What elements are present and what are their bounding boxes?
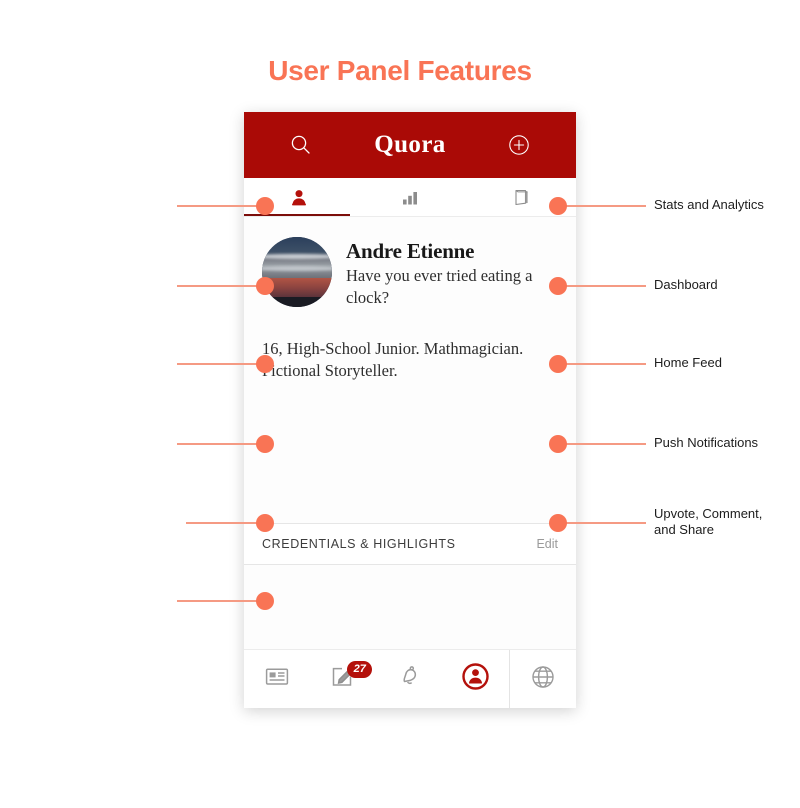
callout-label: Upvote, Comment, and Share: [654, 506, 800, 539]
callout-dot[interactable]: [549, 435, 567, 453]
callout-dot[interactable]: [256, 592, 274, 610]
callout-dot[interactable]: [256, 355, 274, 373]
credentials-section: CREDENTIALS & HIGHLIGHTS Edit: [244, 523, 576, 565]
callout-leader: [558, 363, 646, 365]
callout-leader: [177, 205, 265, 207]
nav-item-spaces[interactable]: [509, 650, 576, 708]
profile-tagline: Have you ever tried eating a clock?: [346, 265, 558, 310]
profile-name: Andre Etienne: [346, 239, 558, 263]
profile-circle-icon: [462, 663, 489, 695]
callout-dot[interactable]: [549, 355, 567, 373]
bell-icon: [398, 665, 422, 693]
callout-leader: [177, 600, 265, 602]
callout-leader: [177, 443, 265, 445]
news-feed-icon: [265, 666, 289, 692]
tab-stats[interactable]: [355, 178, 466, 216]
profile-tabbar: [244, 178, 576, 217]
page-title: User Panel Features: [0, 55, 800, 87]
globe-icon: [531, 665, 555, 694]
nav-item-feed[interactable]: [244, 650, 310, 708]
callout-label: Stats and Analytics: [654, 197, 800, 213]
callout-dot[interactable]: [256, 435, 274, 453]
app-header: Quora: [244, 112, 576, 178]
book-icon: [513, 189, 529, 206]
callout-leader: [177, 363, 265, 365]
callout-dot[interactable]: [549, 277, 567, 295]
profile-header: Andre Etienne Have you ever tried eating…: [244, 217, 576, 316]
credentials-title: CREDENTIALS & HIGHLIGHTS: [262, 537, 456, 551]
credentials-edit-button[interactable]: Edit: [536, 537, 558, 551]
callout-dot[interactable]: [256, 514, 274, 532]
answer-badge-count: 27: [347, 661, 372, 678]
callout-leader: [177, 285, 265, 287]
avatar[interactable]: [262, 237, 332, 307]
callout-label: Home Feed: [654, 355, 800, 371]
callout-label: Push Notifications: [654, 435, 800, 451]
avatar-ground: [262, 297, 332, 307]
person-icon: [291, 189, 307, 206]
callout-dot[interactable]: [549, 514, 567, 532]
callout-label: Dashboard: [654, 277, 800, 293]
nav-item-notifications[interactable]: [376, 650, 442, 708]
nav-item-answer[interactable]: 27: [310, 650, 376, 708]
nav-item-profile[interactable]: [443, 650, 509, 708]
callout-dot[interactable]: [256, 197, 274, 215]
phone-mockup: Quora: [244, 112, 576, 708]
profile-body-spacer: [244, 383, 576, 523]
callout-leader: [558, 205, 646, 207]
callout-dot[interactable]: [549, 197, 567, 215]
plus-circle-icon[interactable]: [506, 132, 532, 158]
avatar-cloud: [262, 266, 332, 270]
active-tab-underline: [244, 214, 350, 216]
bottom-navigation: 27: [244, 649, 576, 708]
callout-leader: [186, 522, 265, 524]
avatar-cloud: [262, 254, 332, 260]
callout-dot[interactable]: [256, 277, 274, 295]
profile-meta: Andre Etienne Have you ever tried eating…: [346, 237, 558, 310]
profile-bio: 16, High-School Junior. Mathmagician. Fi…: [244, 316, 576, 384]
callout-leader: [558, 285, 646, 287]
callout-leader: [558, 443, 646, 445]
bar-chart-icon: [402, 189, 419, 205]
callout-leader: [558, 522, 646, 524]
